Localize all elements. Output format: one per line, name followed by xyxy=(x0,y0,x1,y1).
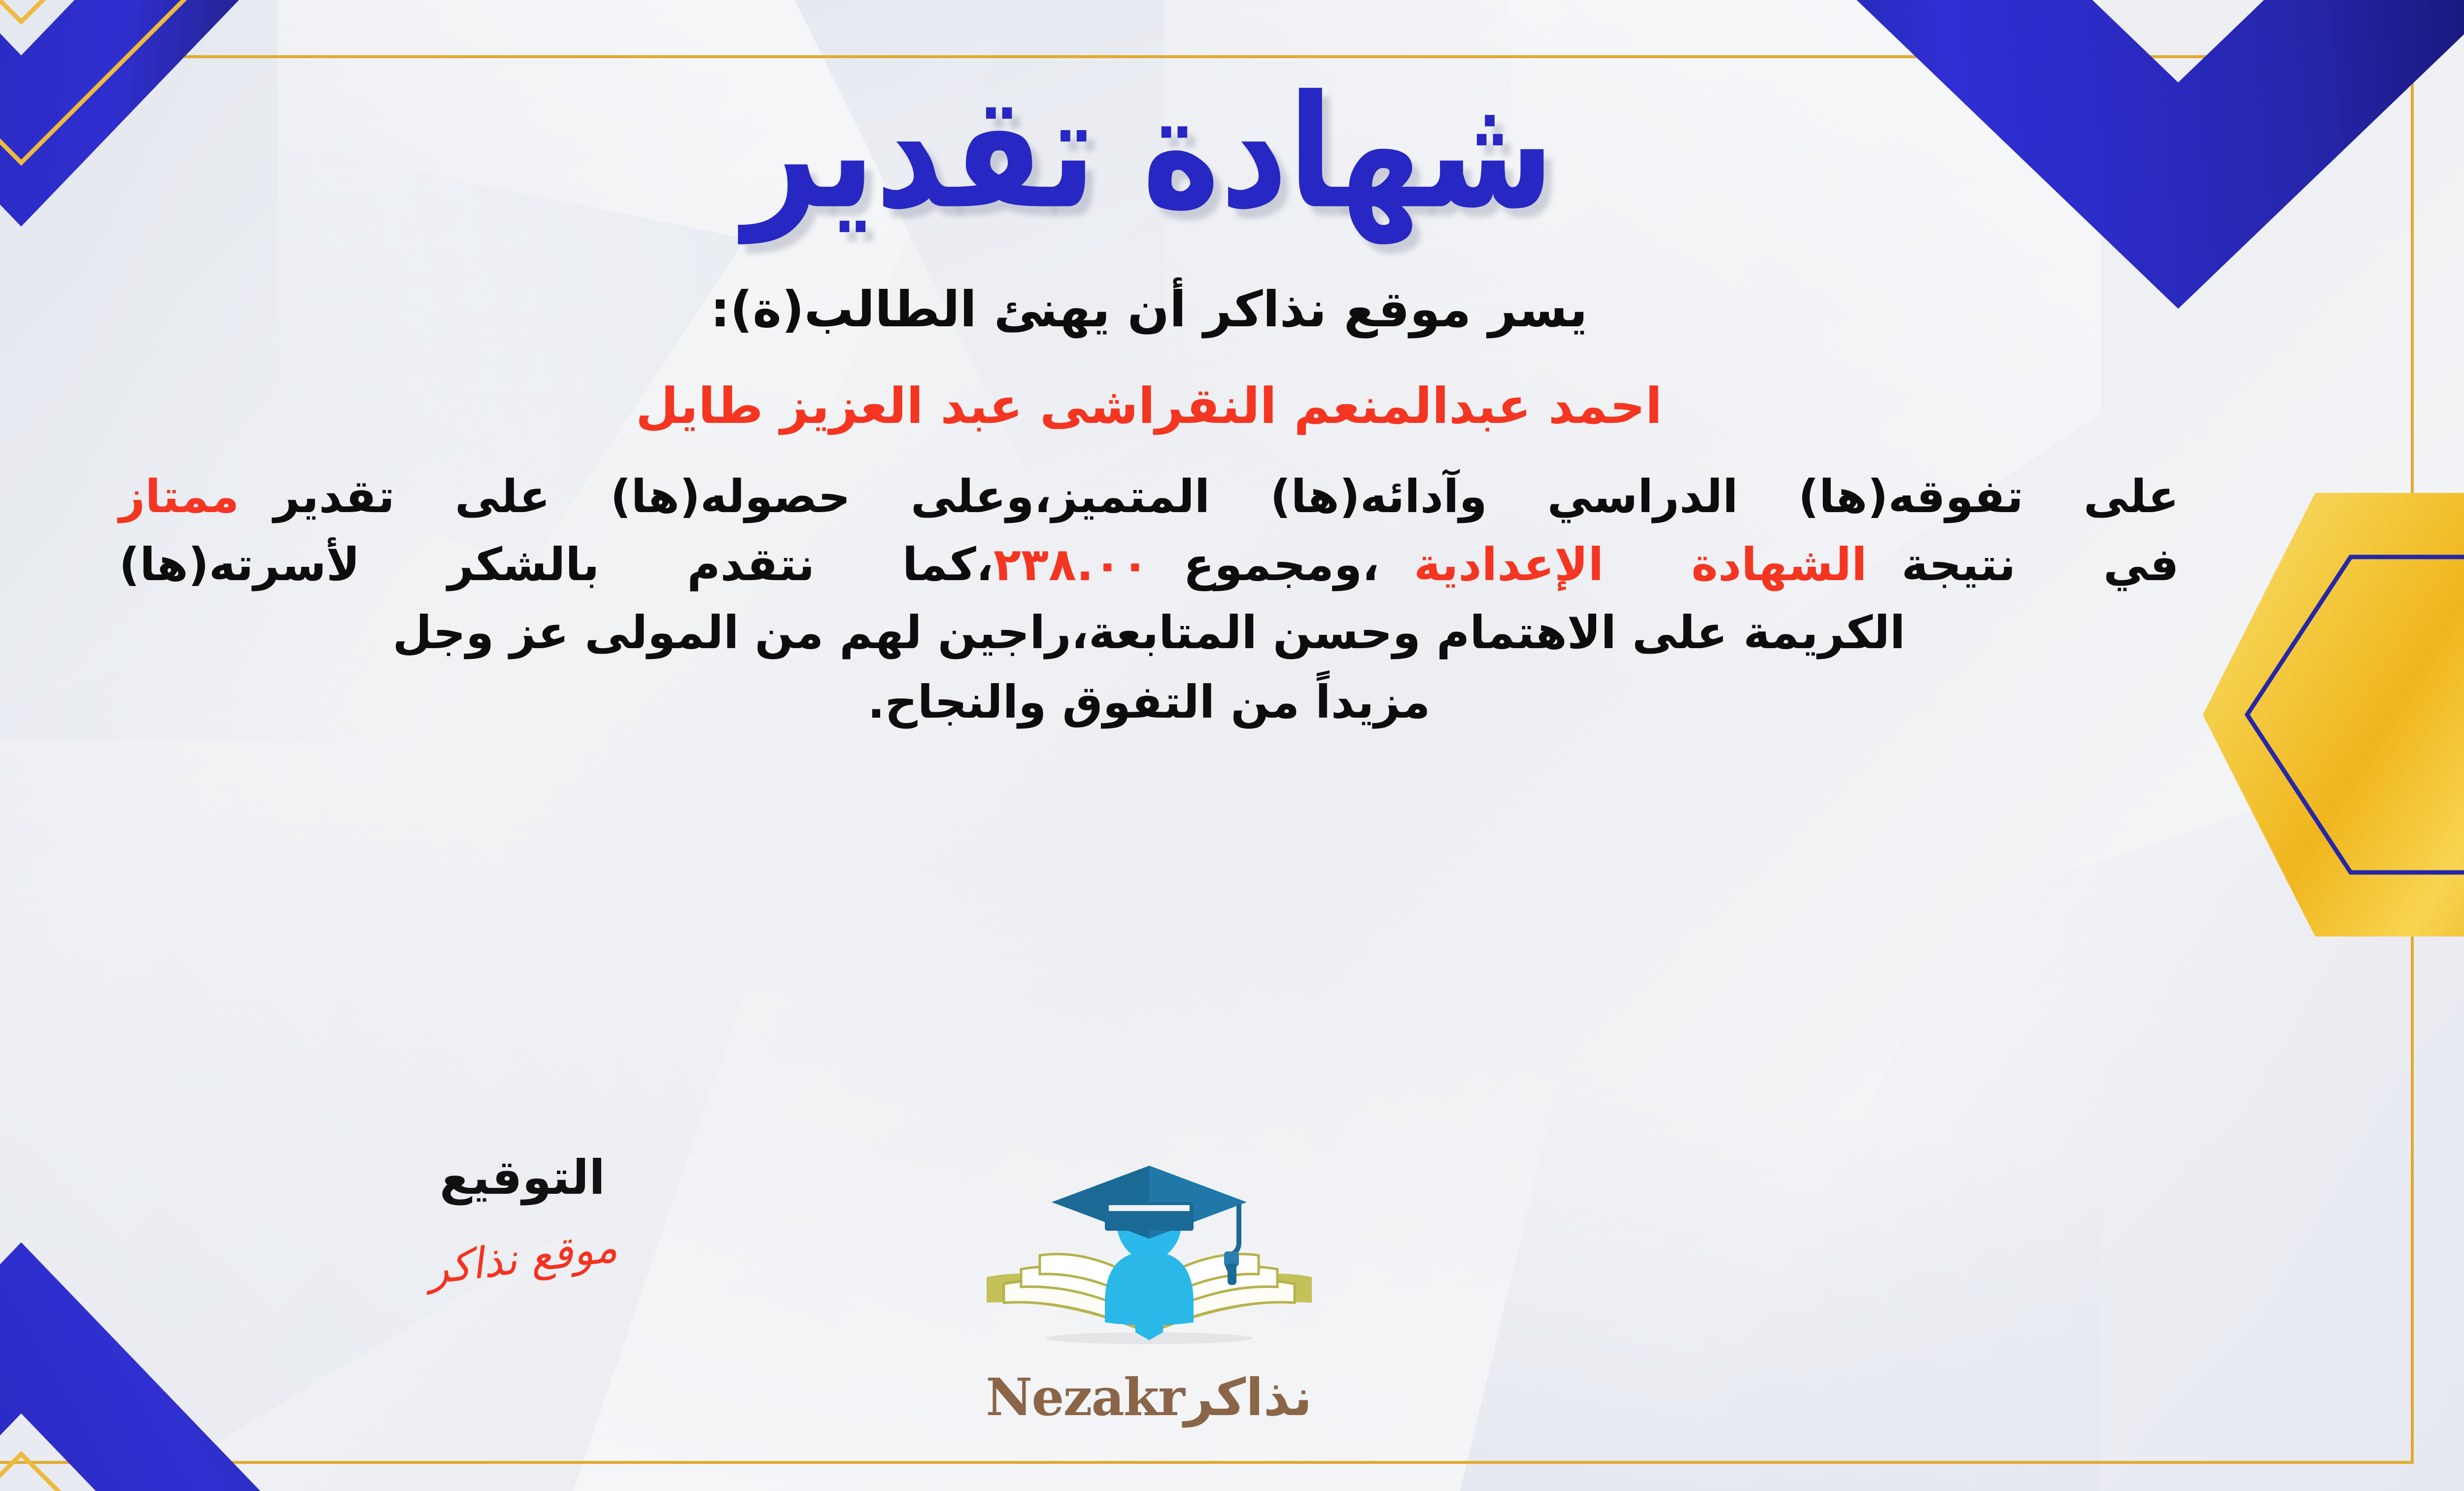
certificate-body: يسر موقع نذاكر أن يهنئ الطالب(ة): احمد ع… xyxy=(119,275,2179,739)
achievement-line-3: الكريمة على الاهتمام وحسن المتابعة،راجين… xyxy=(119,601,2179,665)
student-name: احمد عبدالمنعم النقراشى عبد العزيز طايل xyxy=(119,371,2179,441)
achievement-text-a: على تفوقه(ها) الدراسي وآدائه(ها) المتميز… xyxy=(274,470,2179,523)
signature-label: التوقيع xyxy=(335,1150,710,1205)
logo-text-arabic: نذاكر xyxy=(1184,1367,1312,1427)
intro-line: يسر موقع نذاكر أن يهنئ الطالب(ة): xyxy=(119,275,2179,345)
thanks-text: ،كما نتقدم بالشكر لأسرته(ها) xyxy=(119,538,993,591)
achievement-line-2: في نتيجةالشهادة الإعدادية،ومجموع٢٣٨.٠٠،ك… xyxy=(119,531,2179,599)
certificate-title: شهادة تقدير xyxy=(744,71,1555,235)
signature-mark: موقع نذاكر xyxy=(425,1222,619,1294)
logo-artwork xyxy=(957,1155,1341,1362)
achievement-line-4: مزيداً من التفوق والنجاح. xyxy=(119,670,2179,735)
total-label: ،ومجموع xyxy=(1183,538,1379,591)
exam-prefix-text: في نتيجة xyxy=(1902,538,2179,591)
total-score: ٢٣٨.٠٠ xyxy=(993,538,1149,591)
signature-block: التوقيع موقع نذاكر xyxy=(335,1150,710,1283)
graduation-book-icon xyxy=(957,1155,1341,1362)
site-logo: نذاكرNezakr xyxy=(957,1155,1341,1427)
certificate-footer: التوقيع موقع نذاكر xyxy=(0,1150,2464,1456)
grade-value: ممتاز xyxy=(119,470,240,523)
certificate-page: شهادة تقدير يسر موقع نذاكر أن يهنئ الطال… xyxy=(0,0,2464,1491)
exam-name: الشهادة الإعدادية xyxy=(1414,538,1867,591)
logo-text-latin: Nezakr xyxy=(986,1367,1184,1427)
logo-wordmark: نذاكرNezakr xyxy=(957,1367,1341,1427)
achievement-line-1: على تفوقه(ها) الدراسي وآدائه(ها) المتميز… xyxy=(119,463,2179,531)
